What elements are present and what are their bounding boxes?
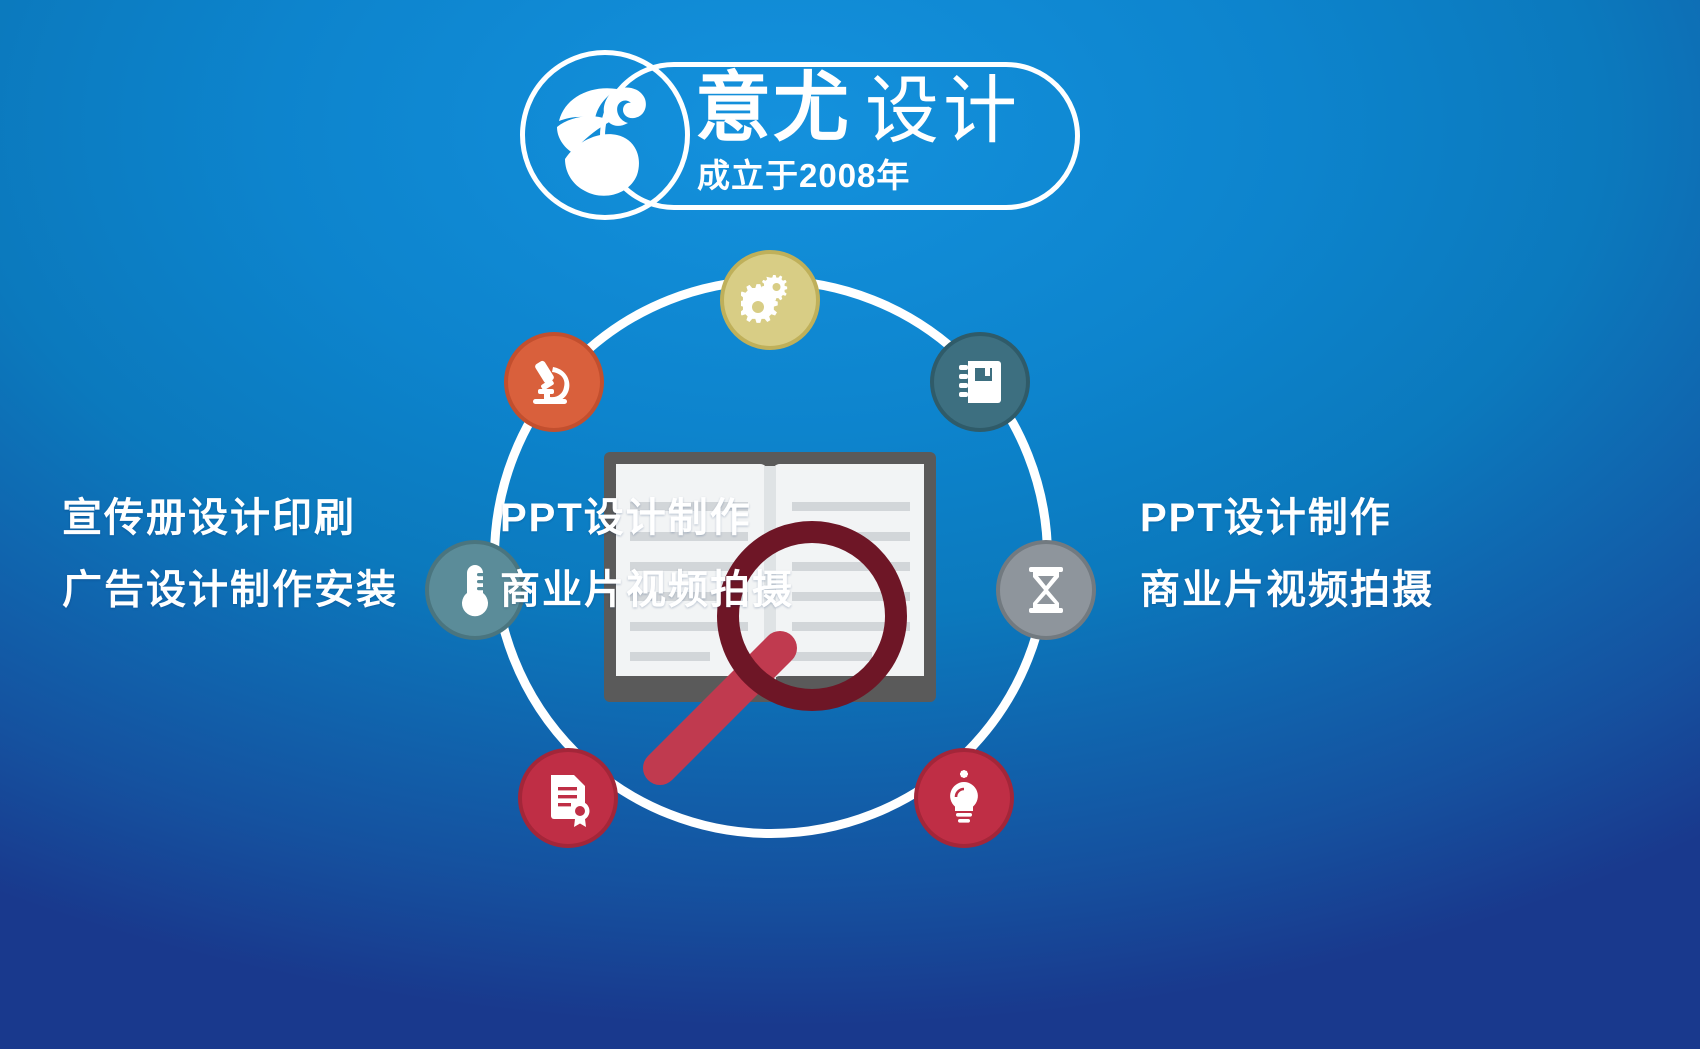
service-text-left: 宣传册设计印刷 广告设计制作安装	[62, 482, 482, 626]
hourglass-icon[interactable]	[996, 540, 1096, 640]
service-middle-line-1: PPT设计制作	[500, 482, 930, 554]
service-text-right: PPT设计制作 商业片视频拍摄	[1140, 482, 1570, 626]
service-right-line-2: 商业片视频拍摄	[1140, 554, 1570, 626]
service-left-line-1: 宣传册设计印刷	[62, 482, 482, 554]
logo-tagline: 成立于2008年	[697, 156, 910, 196]
service-left-line-2: 广告设计制作安装	[62, 554, 482, 626]
logo-name-bold: 意尤	[695, 68, 851, 150]
slide-canvas: 意尤 设计 成立于2008年	[0, 0, 1700, 1049]
service-text-middle: PPT设计制作 商业片视频拍摄	[500, 482, 930, 626]
service-middle-line-2: 商业片视频拍摄	[500, 554, 930, 626]
notebook-icon[interactable]	[930, 332, 1030, 432]
brand-logo: 意尤 设计 成立于2008年	[510, 50, 1085, 220]
logo-name-thin: 设计	[865, 70, 1021, 152]
logo-wordmark: 意尤 设计 成立于2008年	[695, 68, 1085, 208]
microscope-icon[interactable]	[504, 332, 604, 432]
leaf-swirl-icon	[520, 50, 690, 220]
service-right-line-1: PPT设计制作	[1140, 482, 1570, 554]
gear-icon[interactable]	[720, 250, 820, 350]
certificate-icon[interactable]	[518, 748, 618, 848]
